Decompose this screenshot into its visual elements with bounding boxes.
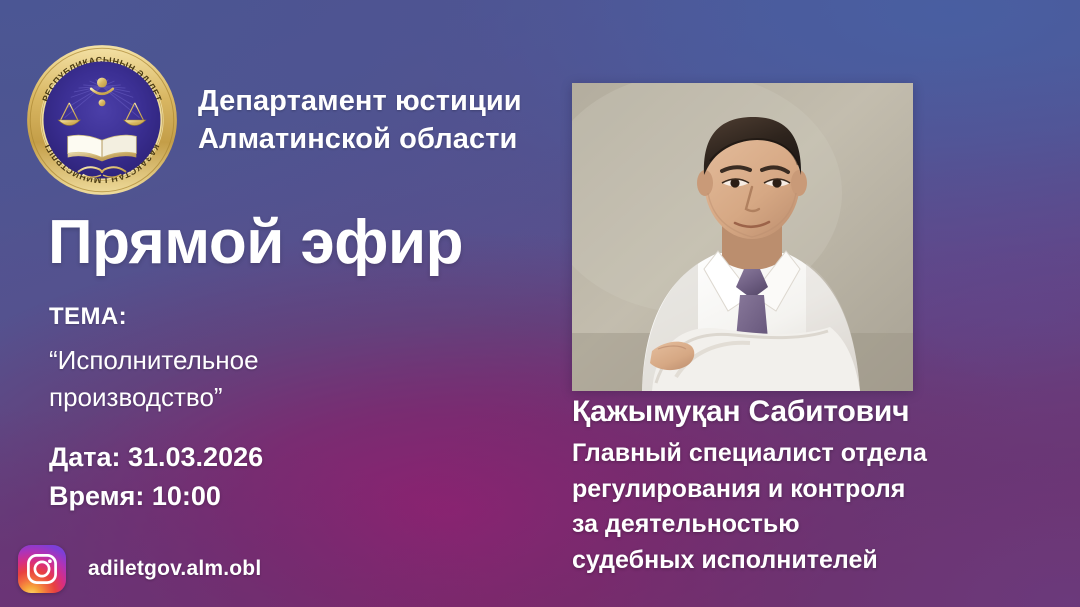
ministry-of-justice-emblem-icon: РЕСПУБЛИКАСЫНЫҢ ӘДІЛЕТ ҚАЗАҚСТАН І МИНИС… [24, 42, 180, 198]
live-broadcast-poster: РЕСПУБЛИКАСЫНЫҢ ӘДІЛЕТ ҚАЗАҚСТАН І МИНИС… [0, 0, 1080, 607]
speaker-position: Главный специалист отдела регулирования … [572, 436, 1042, 578]
broadcast-date: Дата: 31.03.2026 [49, 438, 263, 477]
topic-label: ТЕМА: [49, 305, 259, 329]
topic-value: “Исполнительное производство” [49, 342, 259, 416]
speaker-caption: Қажымуқан Сабитович Главный специалист о… [572, 396, 1042, 578]
schedule-block: Дата: 31.03.2026 Время: 10:00 [49, 438, 263, 516]
live-broadcast-headline: Прямой эфир [48, 212, 463, 274]
speaker-photo [572, 83, 913, 391]
speaker-portrait-image [572, 83, 913, 391]
instagram-handle[interactable]: adiletgov.alm.obl [88, 557, 261, 581]
broadcast-time: Время: 10:00 [49, 477, 263, 516]
speaker-name: Қажымуқан Сабитович [572, 396, 1042, 428]
topic-block: ТЕМА: “Исполнительное производство” [49, 305, 259, 416]
poster-header: РЕСПУБЛИКАСЫНЫҢ ӘДІЛЕТ ҚАЗАҚСТАН І МИНИС… [24, 42, 522, 198]
instagram-icon[interactable] [18, 545, 66, 593]
social-footer[interactable]: adiletgov.alm.obl [18, 545, 261, 593]
department-title: Департамент юстиции Алматинской области [198, 82, 522, 159]
